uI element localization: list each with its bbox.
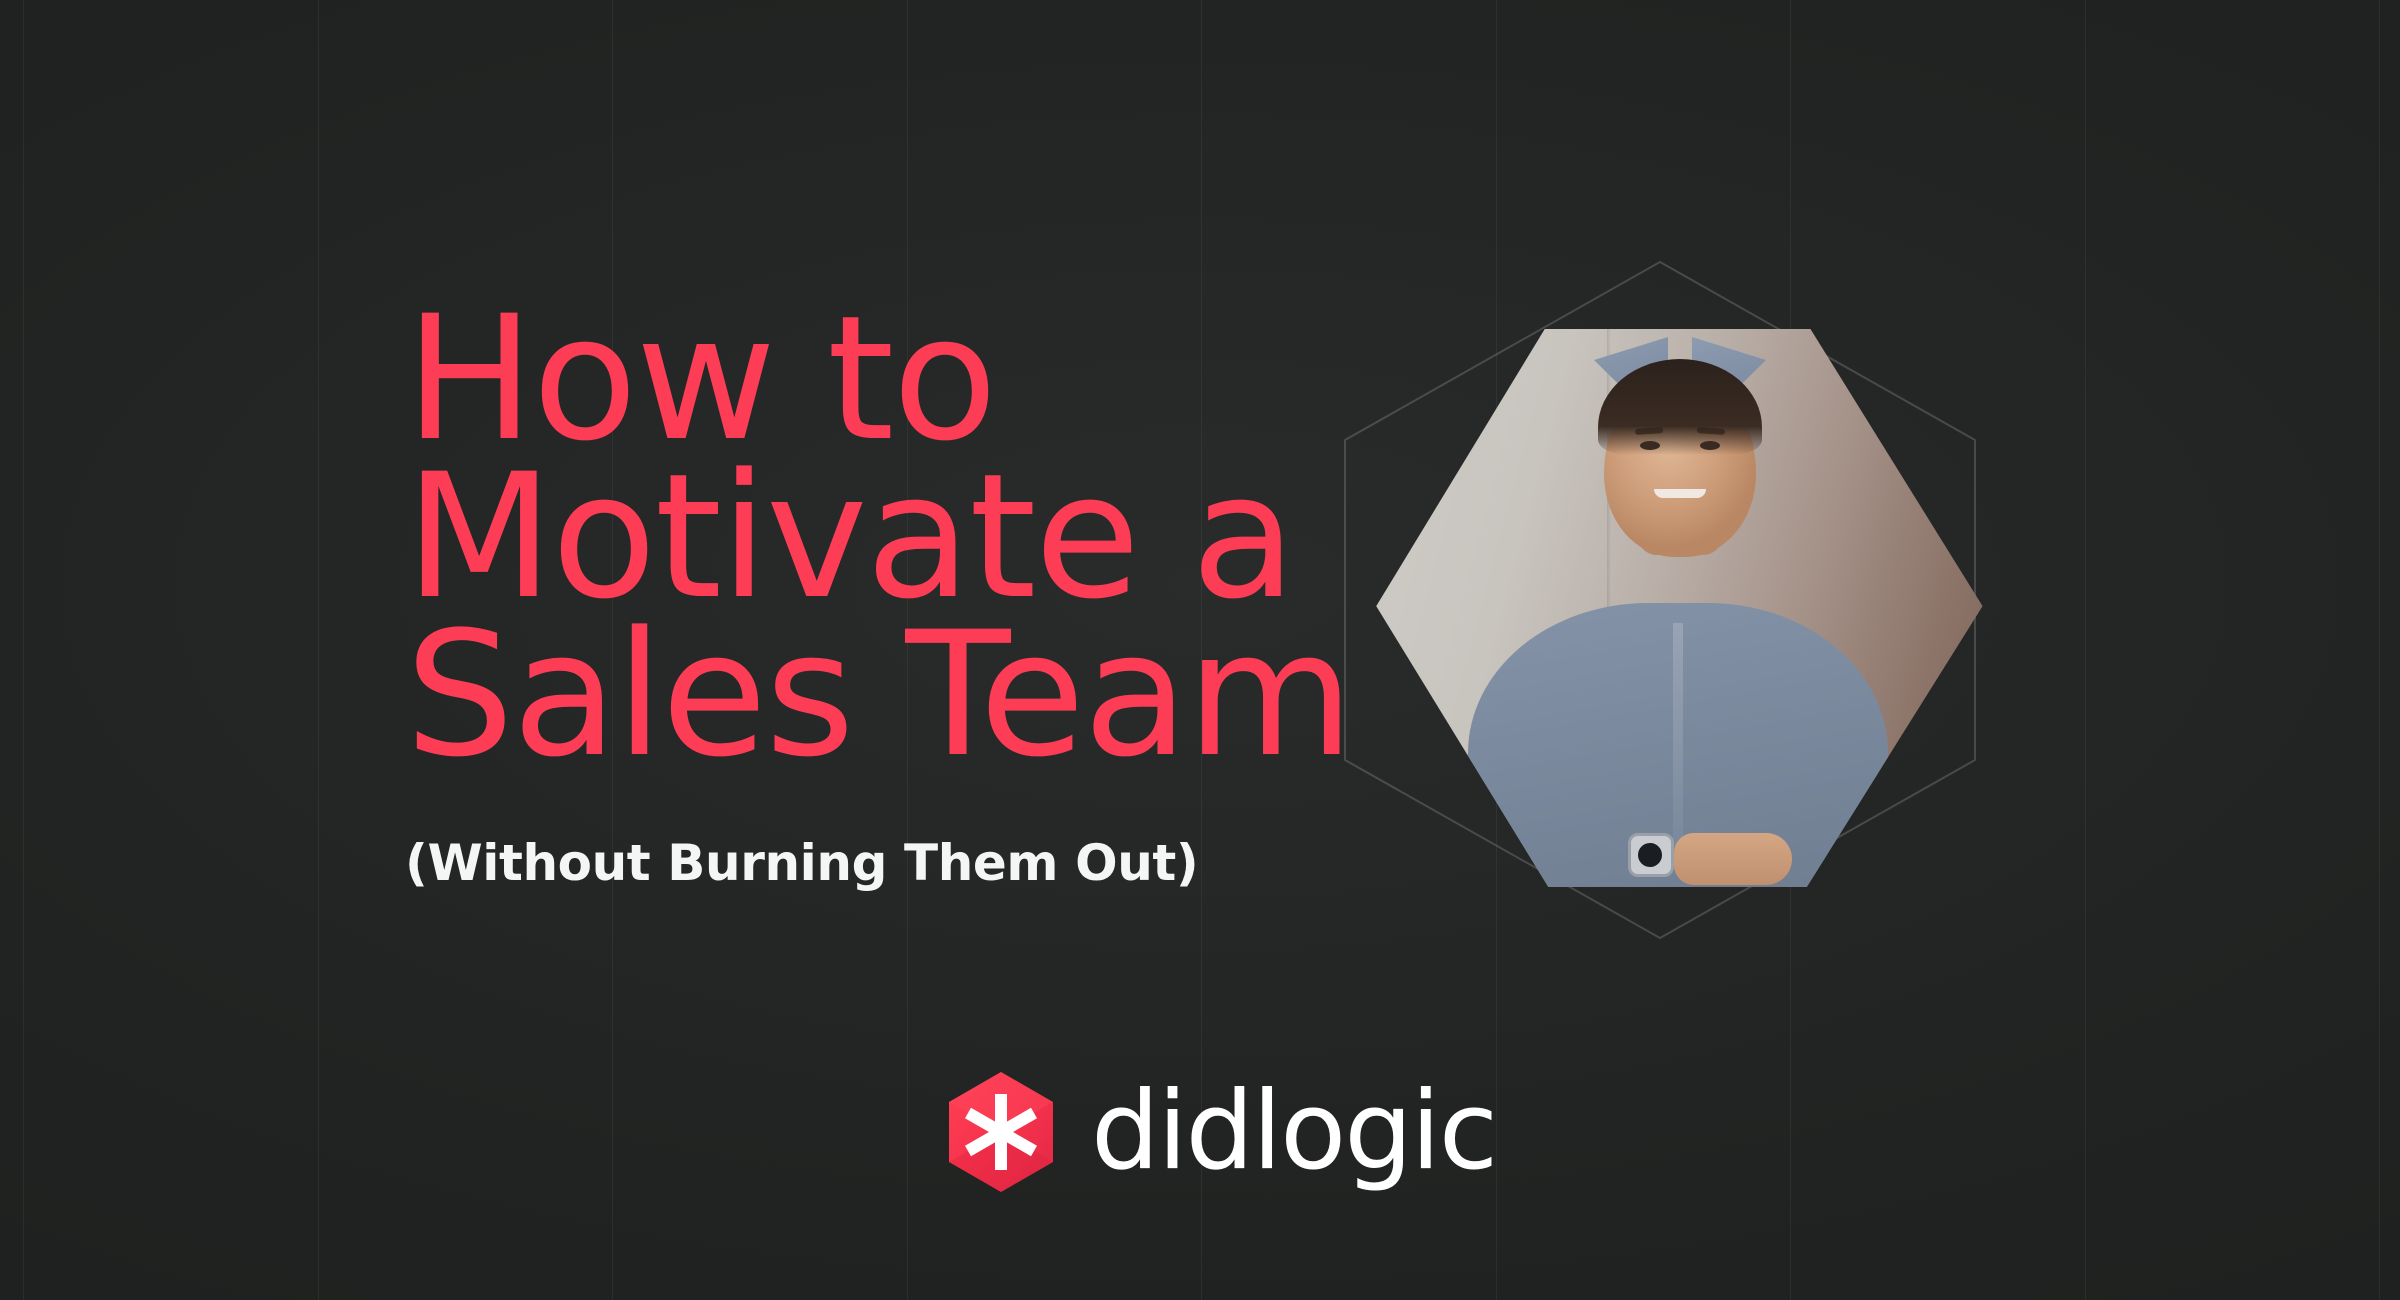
brand-wordmark: didlogic [1091,1078,1496,1186]
brand-lockup[interactable]: didlogic [945,1070,1496,1194]
figure-mouth [1654,489,1706,498]
page-title: How to Motivate a Sales Team [405,300,1405,774]
figure-eye-left [1640,441,1660,450]
headline-line-1: How to [405,300,1405,458]
figure-hand [1674,833,1792,885]
banner-canvas: How to Motivate a Sales Team (Without Bu… [0,0,2400,1300]
headline-line-2: Motivate a [405,458,1405,616]
headline-block: How to Motivate a Sales Team (Without Bu… [405,300,1405,891]
headline-line-3: Sales Team [405,616,1405,774]
figure-wristwatch [1628,833,1674,877]
figure-eye-right [1700,441,1720,450]
portrait-hexagon [1330,250,1990,950]
didlogic-mark-svg [945,1070,1057,1194]
didlogic-hexagon-asterisk-icon [945,1070,1057,1194]
